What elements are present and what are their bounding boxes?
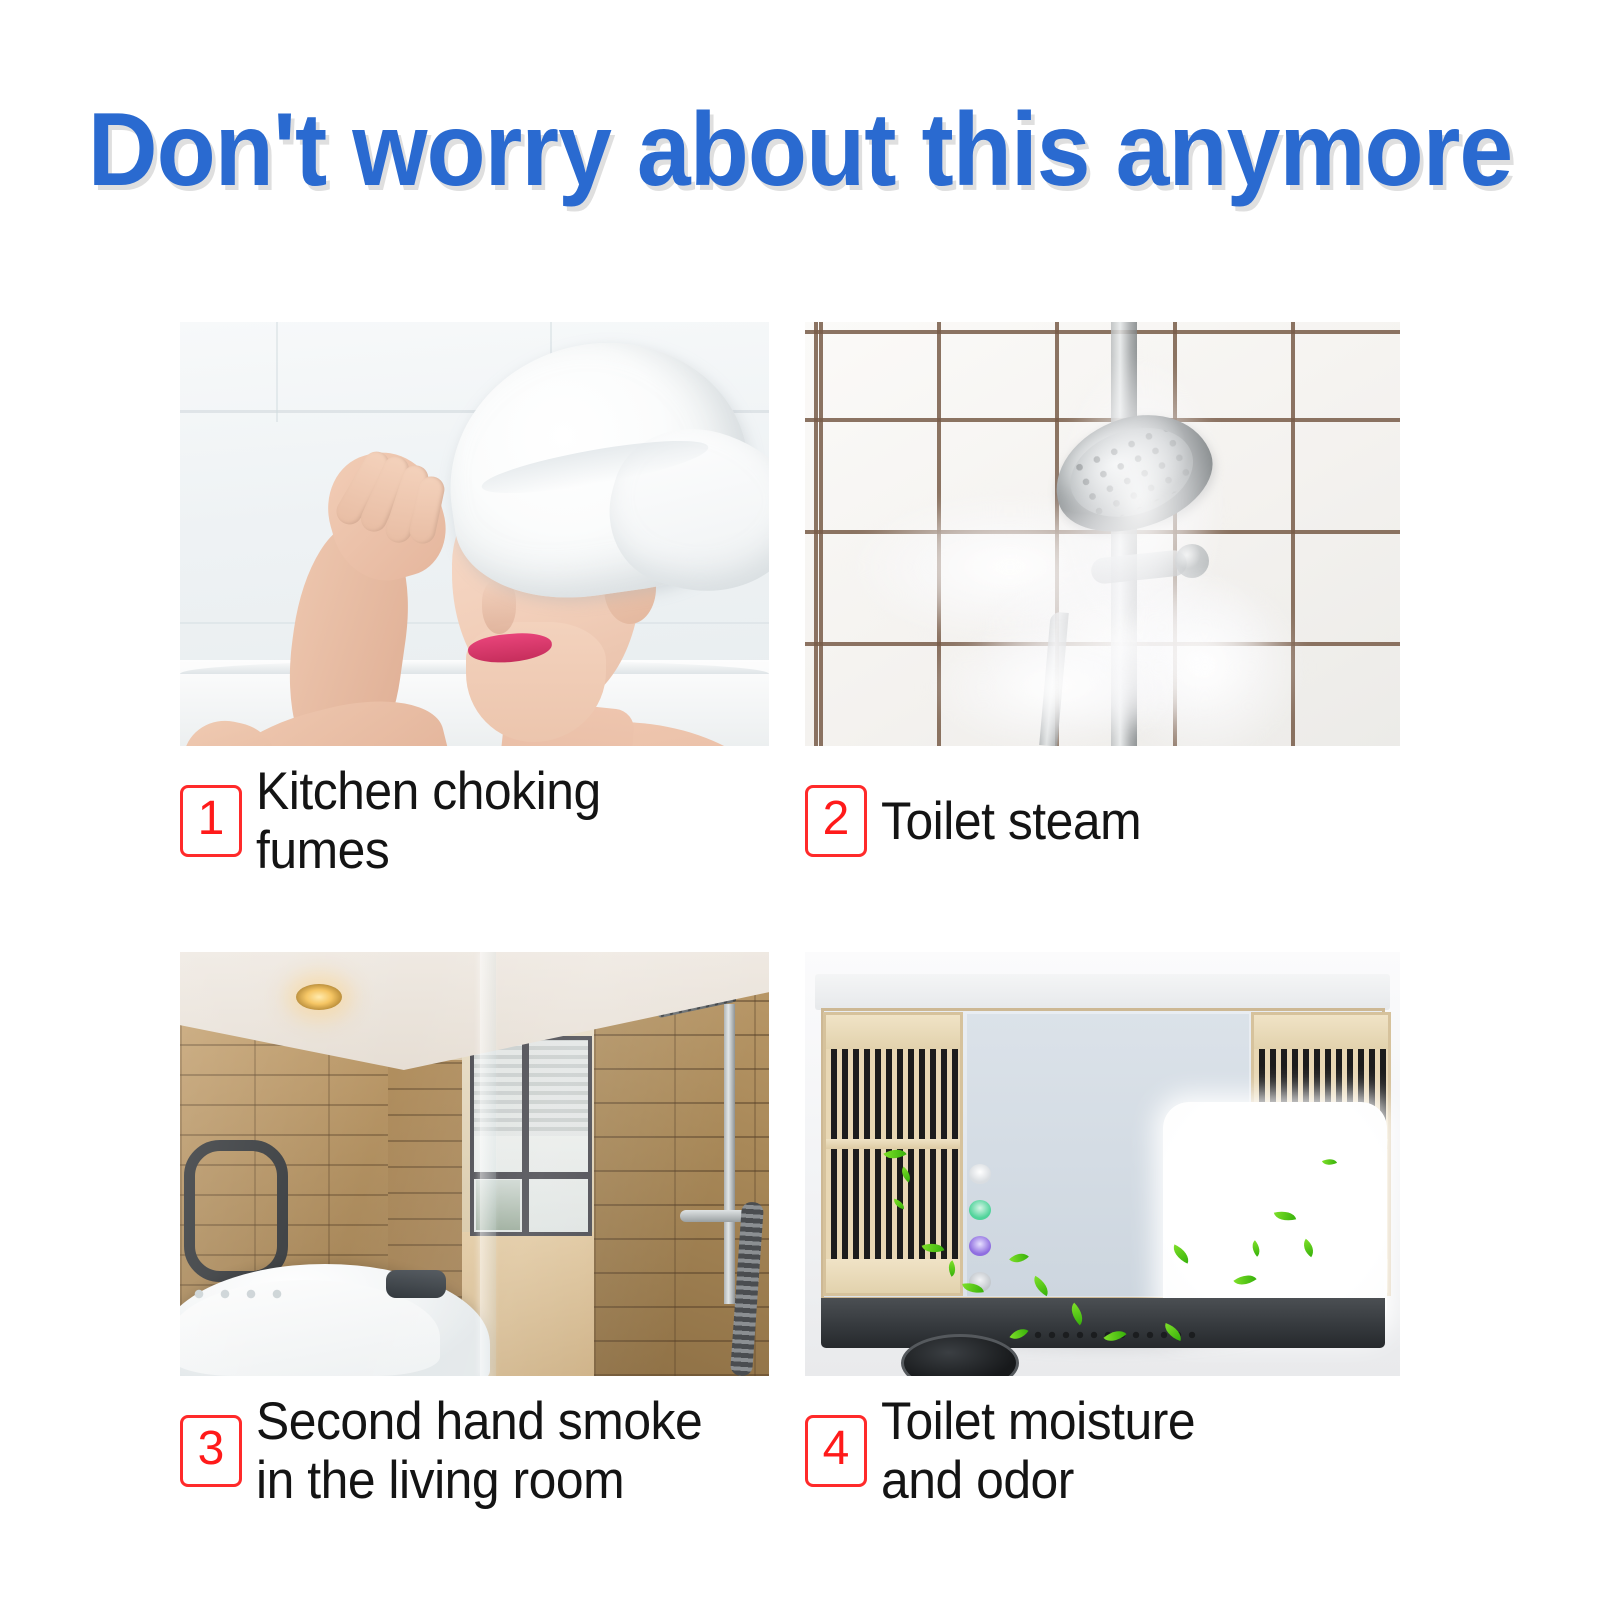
grille-cap (826, 1259, 960, 1293)
grille-cap (1254, 1015, 1388, 1049)
steam-cloud (925, 622, 1185, 746)
photo-kitchen-fumes (180, 322, 769, 746)
purify-icon (969, 1200, 991, 1220)
photo-bath-ventilator (805, 952, 1400, 1376)
shower-riser (724, 1004, 735, 1304)
caption-2: 2 Toilet steam (805, 766, 1400, 876)
ventilator-base (821, 1298, 1385, 1348)
caption-4: 4 Toilet moisture and odor (805, 1396, 1400, 1506)
caption-text-1: Kitchen choking fumes (256, 762, 601, 880)
tile-line (276, 322, 278, 422)
bathtub-pillow (386, 1270, 446, 1298)
bathtub-jets (186, 1288, 296, 1300)
photo-living-room-smoke (180, 952, 769, 1376)
number-badge-1: 1 (180, 785, 242, 857)
feature-cell-4: 4 Toilet moisture and odor (805, 952, 1400, 1506)
page-title: Don't worry about this anymore (56, 95, 1544, 205)
feature-cell-1: 1 Kitchen choking fumes (180, 322, 769, 876)
number-badge-2: 2 (805, 785, 867, 857)
number-badge-3: 3 (180, 1415, 242, 1487)
number-badge-4: 4 (805, 1415, 867, 1487)
caption-text-4: Toilet moisture and odor (881, 1392, 1195, 1510)
sterilize-icon (969, 1236, 991, 1256)
caption-text-2: Toilet steam (881, 792, 1141, 851)
led-panel-frame (967, 1014, 1249, 1296)
feature-cell-3: 3 Second hand smoke in the living room (180, 952, 769, 1506)
grille-cap (826, 1015, 960, 1049)
caption-1: 1 Kitchen choking fumes (180, 766, 769, 876)
feature-cell-2: 2 Toilet steam (805, 322, 1400, 876)
ceiling-downlight (296, 984, 342, 1010)
photo-toilet-steam (805, 322, 1400, 746)
fan-icon (969, 1164, 991, 1184)
window-mullion (522, 1040, 529, 1232)
control-strip (965, 1164, 995, 1292)
ceiling-mount-bar (815, 974, 1390, 1010)
caption-text-3: Second hand smoke in the living room (256, 1392, 702, 1510)
towel-rail (184, 1140, 288, 1282)
grille-divider (826, 1139, 960, 1149)
caption-3: 3 Second hand smoke in the living room (180, 1396, 769, 1506)
glass-partition (480, 952, 496, 1376)
